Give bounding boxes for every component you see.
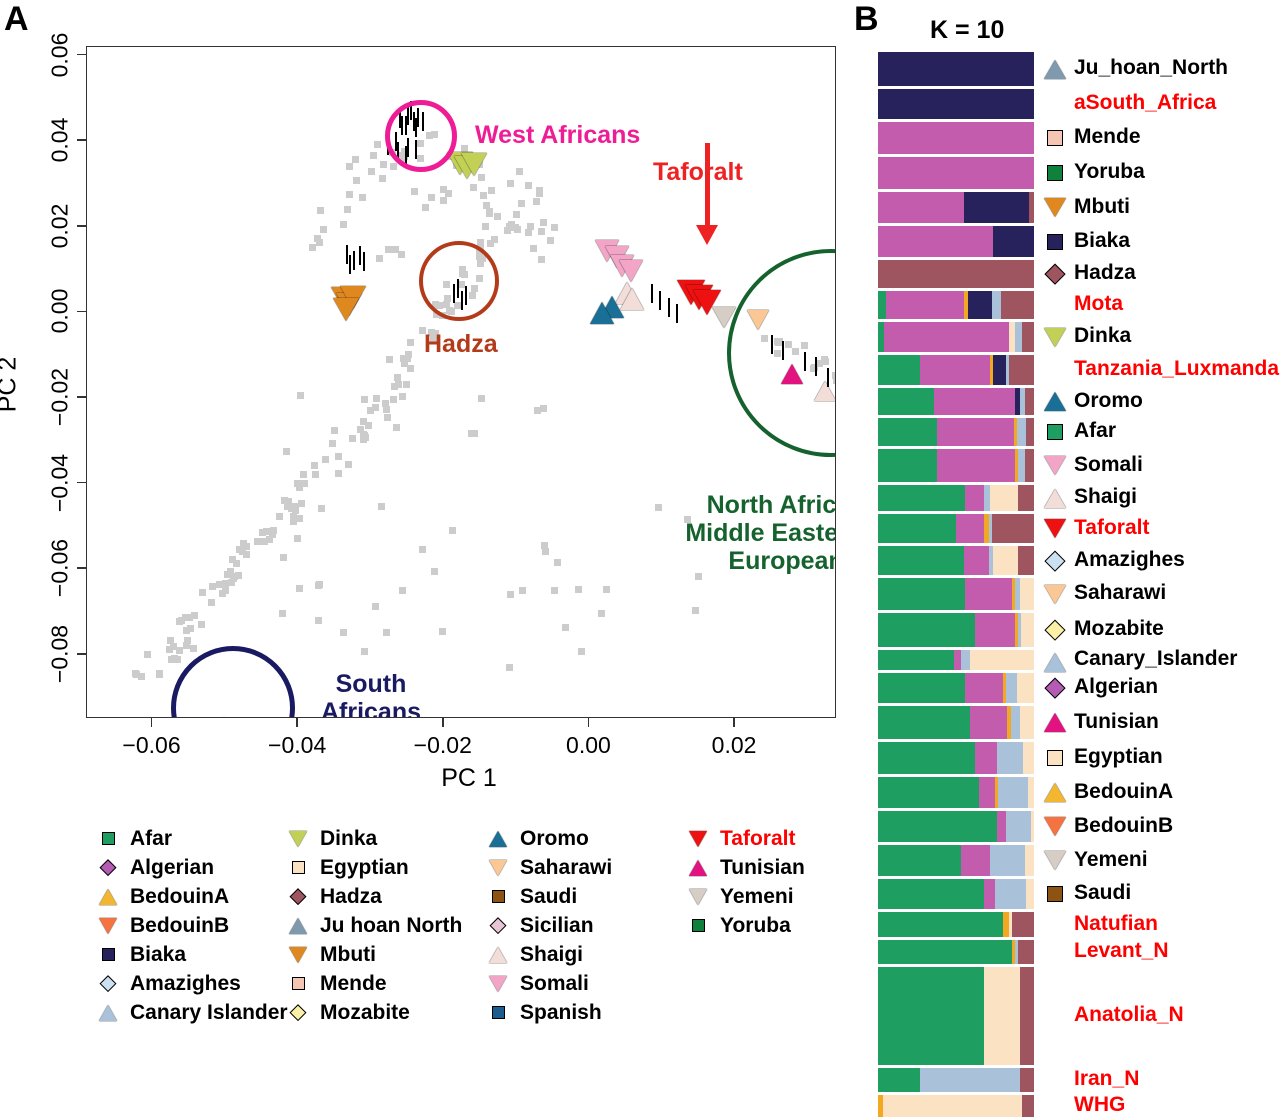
x-tick-label: −0.02 (414, 732, 472, 759)
background-point (318, 505, 325, 512)
admixture-bar (878, 1068, 1034, 1092)
ancestry-segment (878, 1068, 920, 1092)
legend-swatch-diamond-icon (95, 858, 121, 878)
background-point (311, 462, 318, 469)
legend-swatch-triangle-down-icon (285, 945, 311, 965)
ancestry-segment (1029, 192, 1034, 223)
legend-item-shaigi[interactable]: Shaigi (485, 940, 612, 969)
ancestry-segment (1026, 879, 1034, 909)
background-point (222, 587, 229, 594)
legend-label: Amazighes (130, 972, 241, 996)
ancestry-segment (878, 89, 1034, 119)
annotation-line: Middle Easterners (685, 519, 836, 547)
background-point (263, 528, 270, 535)
admixture-symbol-diamond-icon (1042, 262, 1068, 286)
legend-label: Saharawi (520, 856, 612, 880)
admixture-row-label: Amazighes (1074, 548, 1185, 572)
annotation-line: North Africans (685, 491, 836, 519)
admixture-row-somali: Somali (878, 449, 1278, 482)
pca-marker-dinka (474, 176, 487, 194)
background-point (317, 207, 324, 214)
admixture-row-label: Afar (1074, 419, 1116, 443)
admixture-symbol-triangle-up-icon (1042, 781, 1068, 805)
background-point (477, 239, 484, 246)
background-point (386, 356, 393, 363)
ancestry-segment (934, 388, 1015, 415)
background-point (519, 587, 526, 594)
admixture-bar (878, 1095, 1034, 1117)
legend-item-sicilian[interactable]: Sicilian (485, 911, 612, 940)
annotation-line: Europeans (685, 547, 836, 575)
legend-item-mozabite[interactable]: Mozabite (285, 998, 462, 1027)
ancestry-segment (1018, 940, 1034, 964)
legend-label: Shaigi (520, 943, 583, 967)
legend-label: Yoruba (720, 914, 791, 938)
legend-item-mende[interactable]: Mende (285, 969, 462, 998)
ancestry-segment (1012, 912, 1034, 937)
legend-swatch-square-icon (485, 1003, 511, 1023)
admixture-bar-rows: Ju_hoan_NorthaSouth_AfricaMendeYorubaMbu… (878, 52, 1278, 1120)
legend-swatch-triangle-down-icon (685, 829, 711, 849)
annotation-taforalt: Taforalt (653, 158, 743, 186)
background-point (394, 374, 401, 381)
legend-item-algerian[interactable]: Algerian (95, 853, 288, 882)
pca-legend: AfarAlgerianBedouinABedouinBBiakaAmazigh… (95, 824, 835, 1029)
admixture-symbol-triangle-down-icon (1042, 517, 1068, 541)
ancestry-segment (1022, 322, 1034, 352)
pca-marker-mbuti (346, 321, 359, 339)
background-point (419, 546, 426, 553)
admixture-bar (878, 673, 1034, 703)
background-point (440, 186, 447, 193)
background-point (132, 670, 139, 677)
taforalt-arrow-head (696, 225, 718, 245)
admixture-symbol-triangle-down-icon (1042, 325, 1068, 349)
background-point (290, 513, 297, 520)
background-point (335, 470, 342, 477)
background-point (144, 651, 151, 658)
legend-item-afar[interactable]: Afar (95, 824, 288, 853)
legend-item-biaka[interactable]: Biaka (95, 940, 288, 969)
background-point (322, 456, 329, 463)
y-tick (77, 54, 86, 56)
background-point (399, 587, 406, 594)
admixture-row-label: Somali (1074, 453, 1143, 477)
admixture-symbol-square-icon (1042, 746, 1068, 770)
admixture-bar (878, 613, 1034, 647)
background-point (547, 237, 554, 244)
legend-label: BedouinA (130, 885, 229, 909)
panel-b-admixture: K = 10 Ju_hoan_NorthaSouth_AfricaMendeYo… (852, 0, 1280, 1034)
admixture-symbol-triangle-down-icon (1042, 849, 1068, 873)
legend-item-oromo[interactable]: Oromo (485, 824, 612, 853)
y-tick (77, 311, 86, 313)
ancestry-segment (1018, 485, 1034, 511)
ancestry-segment (975, 613, 1016, 647)
admixture-row-label: BedouinA (1074, 780, 1173, 804)
background-point (440, 197, 447, 204)
background-point (384, 414, 391, 421)
admixture-bar (878, 879, 1034, 909)
background-point (294, 535, 301, 542)
background-point (315, 617, 322, 624)
legend-swatch-triangle-down-icon (685, 887, 711, 907)
legend-item-egyptian[interactable]: Egyptian (285, 853, 462, 882)
background-point (407, 365, 414, 372)
admixture-bar (878, 355, 1034, 385)
admixture-row-label: aSouth_Africa (1074, 91, 1216, 115)
y-tick (77, 225, 86, 227)
background-point (431, 568, 438, 575)
background-point (507, 224, 514, 231)
background-point (199, 589, 206, 596)
background-point (598, 610, 605, 617)
admixture-row-label: Egyptian (1074, 745, 1163, 769)
legend-label: Sicilian (520, 914, 594, 938)
ancestry-segment (965, 578, 1012, 610)
admixture-row-asouth-africa: aSouth_Africa (878, 89, 1278, 119)
ancestry-segment (970, 706, 1007, 739)
background-point (562, 624, 569, 631)
ancestry-segment (878, 777, 979, 808)
ancestry-segment (937, 418, 1013, 446)
ancestry-segment (878, 546, 964, 575)
admixture-symbol-square-icon (1042, 126, 1068, 150)
admixture-row-biaka: Biaka (878, 226, 1278, 257)
legend-item-mbuti[interactable]: Mbuti (285, 940, 462, 969)
background-point (198, 621, 205, 628)
west-africans-circle (385, 100, 457, 172)
admixture-row-whg: WHG (878, 1095, 1278, 1117)
admixture-row-saudi: Saudi (878, 879, 1278, 909)
background-point (361, 396, 368, 403)
legend-item-yoruba[interactable]: Yoruba (685, 911, 805, 940)
admixture-row-shaigi: Shaigi (878, 485, 1278, 511)
legend-swatch-triangle-up-icon (95, 887, 121, 907)
legend-swatch-triangle-up-icon (95, 1003, 121, 1023)
background-point (345, 461, 352, 468)
background-point (376, 255, 383, 262)
background-point (382, 400, 389, 407)
background-point (227, 568, 234, 575)
legend-swatch-triangle-up-icon (685, 858, 711, 878)
ancestry-segment (883, 1095, 1022, 1117)
legend-item-saudi[interactable]: Saudi (485, 882, 612, 911)
admixture-row-iran-n: Iran_N (878, 1068, 1278, 1092)
ancestry-segment (1025, 845, 1034, 876)
annotation-line: West Africans (475, 121, 640, 149)
admixture-row-label: Oromo (1074, 389, 1143, 413)
background-point (335, 453, 342, 460)
legend-label: Canary Islander (130, 1001, 288, 1025)
background-point (478, 395, 485, 402)
legend-item-canary-islander[interactable]: Canary Islander (95, 998, 288, 1027)
ancestry-segment (961, 650, 970, 670)
background-point (578, 648, 585, 655)
x-tick-label: 0.02 (712, 732, 757, 759)
legend-item-amazighes[interactable]: Amazighes (95, 969, 288, 998)
background-point (491, 236, 498, 243)
admixture-row-dinka: Dinka (878, 322, 1278, 352)
admixture-symbol-square-icon (1042, 882, 1068, 906)
admixture-row-mende: Mende (878, 122, 1278, 154)
background-point (428, 194, 435, 201)
y-tick (77, 482, 86, 484)
ancestry-segment (878, 673, 965, 703)
admixture-row-tanzania-luxmanda: Tanzania_Luxmanda (878, 355, 1278, 385)
south-africans-circle (171, 646, 295, 718)
admixture-bar (878, 514, 1034, 543)
background-point (399, 393, 406, 400)
ancestry-segment (961, 845, 991, 876)
background-point (488, 187, 495, 194)
ancestry-segment (878, 122, 1034, 154)
ancestry-segment (995, 879, 1026, 909)
legend-item-tunisian[interactable]: Tunisian (685, 853, 805, 882)
legend-column-4: TaforaltTunisianYemeniYoruba (685, 824, 805, 940)
background-point (331, 427, 338, 434)
legend-item-dinka[interactable]: Dinka (285, 824, 462, 853)
background-point (482, 223, 489, 230)
admixture-row-label: Mota (1074, 292, 1123, 316)
ancestry-segment (984, 967, 1020, 1065)
admixture-bar (878, 291, 1034, 319)
ancestry-segment (878, 52, 1034, 86)
ancestry-segment (1026, 418, 1034, 446)
admixture-symbol-triangle-up-icon (1042, 57, 1068, 81)
admixture-row-natufian: Natufian (878, 912, 1278, 937)
ancestry-segment (878, 613, 975, 647)
ancestry-segment (964, 192, 1030, 223)
admixture-row-label: Shaigi (1074, 485, 1137, 509)
legend-swatch-triangle-down-icon (485, 858, 511, 878)
admixture-row-label: Natufian (1074, 912, 1158, 936)
ancestry-segment (878, 845, 961, 876)
x-tick-label: 0.00 (566, 732, 611, 759)
y-tick (77, 653, 86, 655)
ancestry-segment (1020, 578, 1034, 610)
admixture-symbol-square-icon (1042, 420, 1068, 444)
legend-item-bedouinb[interactable]: BedouinB (95, 911, 288, 940)
background-point (507, 591, 514, 598)
y-tick (77, 567, 86, 569)
background-point (439, 628, 446, 635)
ancestry-segment (878, 940, 1012, 964)
legend-item-taforalt[interactable]: Taforalt (685, 824, 805, 853)
background-point (365, 422, 372, 429)
admixture-bar (878, 940, 1034, 964)
admixture-symbol-triangle-down-icon (1042, 815, 1068, 839)
y-tick (77, 139, 86, 141)
background-point (243, 551, 250, 558)
background-point (300, 471, 307, 478)
background-point (551, 587, 558, 594)
background-point (422, 204, 429, 211)
legend-item-spanish[interactable]: Spanish (485, 998, 612, 1027)
admixture-symbol-diamond-icon (1042, 618, 1068, 642)
admixture-row-label: BedouinB (1074, 814, 1173, 838)
ancestry-segment (884, 322, 1009, 352)
background-point (184, 637, 191, 644)
background-point (513, 211, 520, 218)
admixture-row-label: Hadza (1074, 261, 1136, 285)
background-point (380, 161, 387, 168)
pca-marker-somali-oromo (603, 285, 614, 303)
ancestry-segment (997, 742, 1024, 774)
legend-label: Dinka (320, 827, 377, 851)
background-point (309, 244, 316, 251)
legend-label: BedouinB (130, 914, 229, 938)
legend-swatch-triangle-up-icon (485, 945, 511, 965)
admixture-row-amazighes: Amazighes (878, 546, 1278, 575)
ancestry-segment (956, 514, 984, 543)
admixture-symbol-triangle-up-icon (1042, 711, 1068, 735)
admixture-row-tunisian: Tunisian (878, 706, 1278, 739)
background-point (353, 177, 360, 184)
admixture-row-oromo: Oromo (878, 388, 1278, 415)
background-point (449, 527, 456, 534)
legend-item-hadza[interactable]: Hadza (285, 882, 462, 911)
admixture-row-label: Yoruba (1074, 160, 1145, 184)
background-point (692, 607, 699, 614)
background-point (390, 163, 397, 170)
background-point (269, 531, 276, 538)
annotation-hadza: Hadza (424, 330, 498, 358)
background-point (288, 505, 295, 512)
admixture-bar (878, 192, 1034, 223)
ancestry-segment (878, 485, 965, 511)
x-axis-title: PC 1 (441, 764, 497, 793)
x-tick (733, 718, 735, 727)
background-point (373, 395, 380, 402)
background-point (514, 226, 521, 233)
legend-swatch-square-icon (95, 945, 121, 965)
legend-item-somali[interactable]: Somali (485, 969, 612, 998)
admixture-row-algerian: Algerian (878, 673, 1278, 703)
ancestry-segment (878, 879, 984, 909)
ancestry-segment (965, 485, 984, 511)
background-point (235, 572, 242, 579)
admixture-row-mbuti: Mbuti (878, 192, 1278, 223)
ancestry-segment (878, 226, 993, 257)
admixture-bar (878, 122, 1034, 154)
legend-swatch-square-icon (485, 887, 511, 907)
taforalt-arrow-shaft (705, 143, 710, 227)
legend-swatch-square-icon (285, 974, 311, 994)
background-point (536, 187, 543, 194)
background-point (296, 585, 303, 592)
admixture-row-label: Biaka (1074, 229, 1130, 253)
background-point (385, 246, 392, 253)
background-point (361, 648, 368, 655)
background-point (835, 367, 836, 374)
ancestry-segment (964, 546, 989, 575)
background-point (171, 655, 178, 662)
ancestry-segment (1009, 355, 1034, 385)
admixture-row-label: Dinka (1074, 324, 1131, 348)
legend-label: Ju hoan North (320, 914, 462, 938)
admixture-row-mozabite: Mozabite (878, 613, 1278, 647)
legend-label: Egyptian (320, 856, 409, 880)
background-point (283, 448, 290, 455)
legend-swatch-square-icon (285, 858, 311, 878)
background-point (340, 629, 347, 636)
background-point (461, 145, 468, 152)
background-point (167, 637, 174, 644)
ancestry-segment (1006, 673, 1017, 703)
annotation-west-africans: West Africans (475, 121, 640, 149)
legend-label: Oromo (520, 827, 589, 851)
legend-swatch-diamond-icon (95, 974, 121, 994)
background-point (372, 603, 379, 610)
legend-column-2: DinkaEgyptianHadzaJu hoan NorthMbutiMend… (285, 824, 462, 1027)
admixture-bar (878, 157, 1034, 189)
background-point (383, 629, 390, 636)
background-point (276, 513, 283, 520)
admixture-bar (878, 388, 1034, 415)
background-point (301, 480, 308, 487)
background-point (393, 424, 400, 431)
background-point (390, 396, 397, 403)
background-point (296, 515, 303, 522)
background-point (312, 471, 319, 478)
background-point (379, 175, 386, 182)
ancestry-segment (968, 291, 991, 319)
background-point (329, 440, 336, 447)
admixture-row-label: Ju_hoan_North (1074, 56, 1228, 80)
legend-item-ju-hoan-north[interactable]: Ju hoan North (285, 911, 462, 940)
admixture-bar (878, 578, 1034, 610)
background-point (383, 406, 390, 413)
legend-column-3: OromoSaharawiSaudiSicilianShaigiSomaliSp… (485, 824, 612, 1027)
legend-label: Mbuti (320, 943, 376, 967)
ancestry-segment (1021, 613, 1033, 647)
background-point (361, 432, 368, 439)
admixture-k-title: K = 10 (930, 16, 1004, 45)
y-axis-title: PC 2 (0, 357, 22, 413)
x-tick (588, 718, 590, 727)
admixture-symbol-square-icon (1042, 230, 1068, 254)
admixture-bar (878, 226, 1034, 257)
background-point (187, 625, 194, 632)
ancestry-segment (920, 355, 990, 385)
annotation-line: Hadza (424, 330, 498, 358)
admixture-symbol-triangle-up-icon (1042, 650, 1068, 674)
legend-item-saharawi[interactable]: Saharawi (485, 853, 612, 882)
background-point (533, 198, 540, 205)
admixture-symbol-square-icon (1042, 161, 1068, 185)
background-point (542, 548, 549, 555)
background-point (530, 245, 537, 252)
ancestry-segment (975, 742, 997, 774)
ancestry-segment (1017, 673, 1034, 703)
legend-label: Afar (130, 827, 172, 851)
legend-item-bedouina[interactable]: BedouinA (95, 882, 288, 911)
admixture-row-label: Iran_N (1074, 1067, 1139, 1091)
legend-label: Spanish (520, 1001, 602, 1025)
background-point (346, 163, 353, 170)
background-point (575, 586, 582, 593)
ancestry-segment (886, 291, 964, 319)
admixture-bar (878, 706, 1034, 739)
ancestry-segment (1022, 1095, 1034, 1117)
admixture-row-label: Taforalt (1074, 516, 1149, 540)
admixture-row-levant-n: Levant_N (878, 940, 1278, 964)
legend-item-yemeni[interactable]: Yemeni (685, 882, 805, 911)
legend-label: Mozabite (320, 1001, 410, 1025)
north-africans-circle (727, 249, 836, 457)
admixture-bar (878, 912, 1034, 937)
